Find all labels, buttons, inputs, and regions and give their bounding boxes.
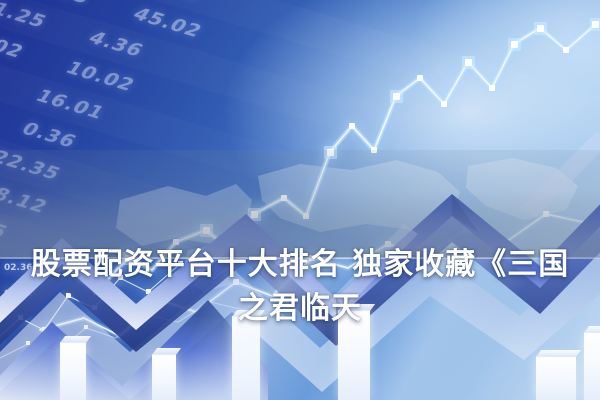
headline-text: 股票配资平台十大排名 独家收藏《三国之君临天 下》，为神为魔，我的命运自主宰！ bbox=[0, 155, 600, 400]
banner-image: -00.02-0.3521.05+55.02-08.3545.02-0.35-1… bbox=[0, 0, 600, 400]
headline-line-1: 股票配资平台十大排名 独家收藏《三国之君临天 bbox=[18, 243, 582, 331]
